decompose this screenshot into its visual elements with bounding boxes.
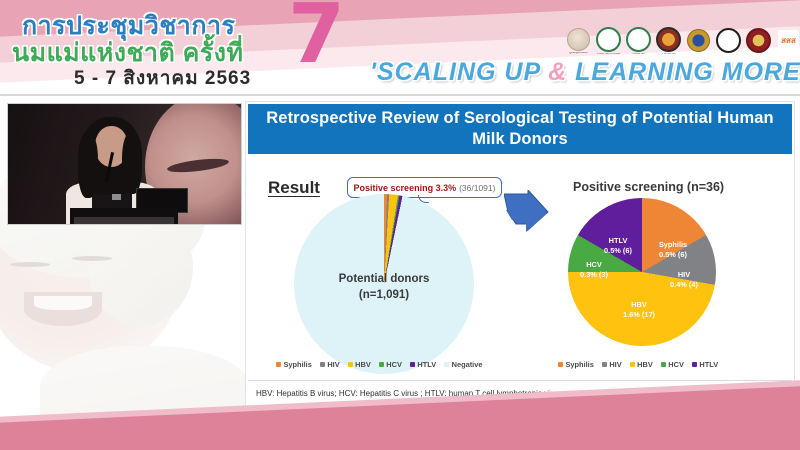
child-teeth — [34, 296, 92, 310]
child-eye-left — [10, 262, 50, 267]
logo-department-of-health-icon: กรมอนามัย — [626, 27, 651, 56]
logo-thai-breastfeeding-foundation-icon: มูลนิธิศูนย์นมแม่ — [566, 27, 591, 56]
legend-item-syphilis: Syphilis — [276, 360, 312, 369]
logo-ministry-of-public-health-icon: กระทรวงสาธารณสุข — [596, 27, 621, 56]
slice-label-syphilis: Syphilis 0.5% (6) — [646, 240, 700, 259]
speaker-hair-right — [122, 132, 142, 194]
blue-arrow-icon — [504, 190, 556, 238]
potential-donors-label-line2: (n=1,091) — [294, 288, 474, 304]
potential-donors-center-label: Potential donors (n=1,091) — [294, 272, 474, 303]
left-chart-legend: Syphilis HIV HBV HCV HTLV Negative — [276, 360, 482, 369]
legend-item-hcv: HCV — [379, 360, 402, 369]
conference-edition-number: 7 — [288, 0, 343, 76]
legend-item-hiv-right: HIV — [602, 360, 622, 369]
legend-item-hbv-right: HBV — [630, 360, 653, 369]
podium-base — [74, 217, 174, 225]
slice-label-htlv: HTLV 0.5% (6) — [592, 236, 644, 255]
legend-item-htlv: HTLV — [410, 360, 436, 369]
legend-item-negative: Negative — [444, 360, 482, 369]
callout-fraction-text: (36/1091) — [459, 183, 495, 193]
conference-tagline: 'SCALING UP & LEARNING MORE' — [370, 58, 800, 87]
positive-screening-chart-title: Positive screening (n=36) — [573, 180, 724, 194]
right-chart-legend: Syphilis HIV HBV HCV HTLV — [558, 360, 718, 369]
slide-panel: Retrospective Review of Serological Test… — [245, 101, 795, 409]
logo-royal-emblem-icon — [686, 27, 711, 56]
speaker-badge — [112, 194, 121, 200]
tagline-part1: 'SCALING UP — [370, 58, 548, 86]
logo-thaihealth-sss-icon: สสส — [776, 27, 800, 56]
child-eye-right — [72, 256, 112, 261]
potential-donors-label-line1: Potential donors — [294, 272, 474, 288]
slice-label-hbv: HBV 1.6% (17) — [608, 300, 670, 319]
child-mouth — [24, 292, 102, 326]
slide-title-bar: Retrospective Review of Serological Test… — [248, 104, 792, 154]
legend-item-htlv-right: HTLV — [692, 360, 718, 369]
speaker-hair-left — [78, 132, 98, 198]
logo-royal-college-icon: ราชวิทยาลัย — [656, 27, 681, 56]
tagline-ampersand: & — [548, 58, 567, 86]
conference-header: การประชุมวิชาการ นมแม่แห่งชาติ ครั้งที่ … — [0, 0, 800, 96]
logo-nursing-council-icon — [746, 27, 771, 56]
legend-item-hiv: HIV — [320, 360, 340, 369]
conference-date-thai: 5 - 7 สิงหาคม 2563 — [74, 63, 251, 93]
tagline-part2: LEARNING MORE' — [567, 58, 800, 86]
slice-label-hiv: HIV 0.4% (4) — [660, 270, 708, 289]
sponsor-logo-row: มูลนิธิศูนย์นมแม่ กระทรวงสาธารณสุข กรมอน… — [566, 25, 798, 57]
header-divider — [0, 94, 800, 96]
slice-label-hcv: HCV 0.3% (3) — [570, 260, 618, 279]
potential-donors-pie-chart: Potential donors (n=1,091) — [294, 194, 474, 374]
legend-item-hbv: HBV — [348, 360, 371, 369]
speaker-video-panel[interactable] — [7, 103, 242, 225]
presentation-screen: การประชุมวิชาการ นมแม่แห่งชาติ ครั้งที่ … — [0, 0, 800, 450]
slide-title-text: Retrospective Review of Serological Test… — [248, 108, 792, 150]
callout-bold-text: Positive screening 3.3% — [354, 183, 457, 193]
child-hat-brim — [88, 208, 193, 326]
legend-item-syphilis-right: Syphilis — [558, 360, 594, 369]
legend-item-hcv-right: HCV — [661, 360, 684, 369]
positive-screening-pie-chart: Syphilis 0.5% (6) HIV 0.4% (4) HBV 1.6% … — [568, 198, 716, 346]
logo-university-emblem-icon — [716, 27, 741, 56]
